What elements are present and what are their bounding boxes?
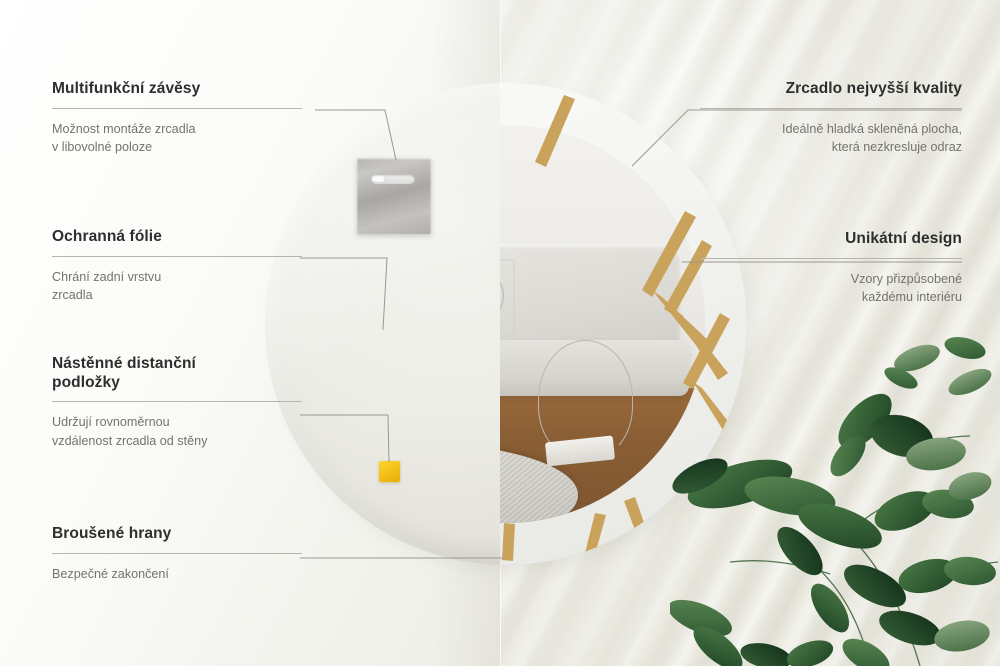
yellow-wall-spacer-pad <box>379 461 400 482</box>
callout-title: Broušené hrany <box>52 525 302 544</box>
callout-rule <box>52 553 302 554</box>
callout-description: Ideálně hladká skleněná plocha, která ne… <box>700 120 962 157</box>
callout-nastenne-distancni-podlozky: Nástěnné distanční podložky Udržují rovn… <box>52 355 302 450</box>
callout-rule <box>52 401 302 402</box>
callout-ochranna-folie: Ochranná fólie Chrání zadní vrstvu zrcad… <box>52 228 302 304</box>
callout-title: Multifunkční závěsy <box>52 80 302 99</box>
callout-title: Ochranná fólie <box>52 228 302 247</box>
callout-rule <box>700 258 962 259</box>
product-feature-infographic: Multifunkční závěsy Možnost montáže zrca… <box>0 0 1000 666</box>
callout-multifunkcni-zavesy: Multifunkční závěsy Možnost montáže zrca… <box>52 80 302 156</box>
callout-zrcadlo-nejvyssi-kvality: Zrcadlo nejvyšší kvality Ideálně hladká … <box>700 80 962 156</box>
multifunctional-hanger-bracket <box>357 158 431 234</box>
callout-title: Unikátní design <box>700 230 962 249</box>
callout-description: Možnost montáže zrcadla v libovolné polo… <box>52 120 302 157</box>
callout-description: Udržují rovnoměrnou vzdálenost zrcadla o… <box>52 413 302 450</box>
callout-unikatni-design: Unikátní design Vzory přizpůsobené každé… <box>700 230 962 306</box>
callout-description: Chrání zadní vrstvu zrcadla <box>52 268 302 305</box>
hanger-keyhole-slot <box>371 174 415 184</box>
callout-description: Bezpečné zakončení <box>52 565 302 583</box>
callout-title: Zrcadlo nejvyšší kvality <box>700 80 962 99</box>
callout-title: Nástěnné distanční podložky <box>52 355 302 392</box>
callout-rule <box>52 256 302 257</box>
callout-description: Vzory přizpůsobené každému interiéru <box>700 270 962 307</box>
callout-rule <box>700 108 962 109</box>
callout-rule <box>52 108 302 109</box>
decorative-plant-leaves <box>670 336 1000 666</box>
callout-brousene-hrany: Broušené hrany Bezpečné zakončení <box>52 525 302 583</box>
